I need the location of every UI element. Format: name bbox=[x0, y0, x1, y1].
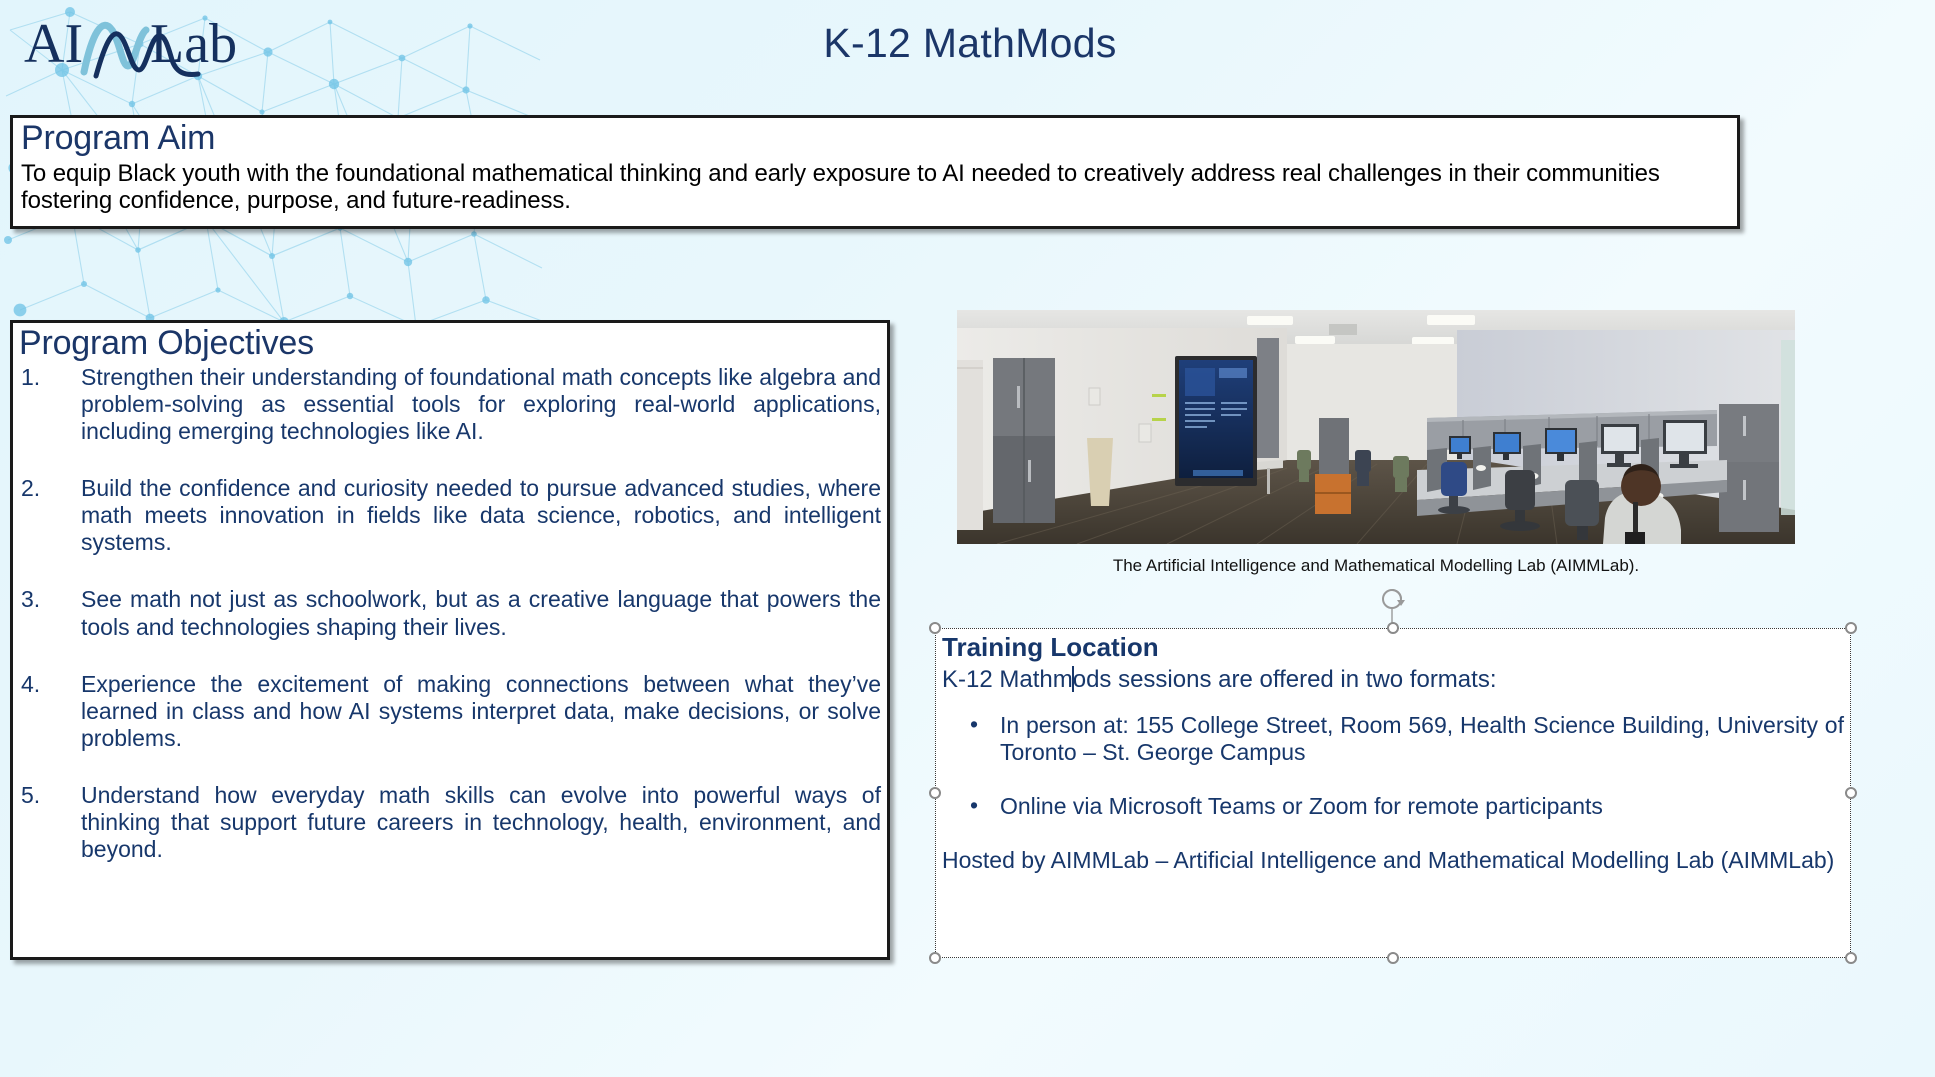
training-location-footer: Hosted by AIMMLab – Artificial Intellige… bbox=[942, 847, 1844, 874]
training-location-intro[interactable]: K-12 Mathmods sessions are offered in tw… bbox=[942, 666, 1844, 693]
lab-photo-caption: The Artificial Intelligence and Mathemat… bbox=[957, 556, 1795, 576]
list-item-number: 1. bbox=[21, 364, 61, 391]
svg-text:Lab: Lab bbox=[150, 13, 237, 75]
list-item-text: Experience the excitement of making conn… bbox=[81, 671, 881, 751]
program-objectives-box: Program Objectives 1. Strengthen their u… bbox=[10, 320, 890, 960]
intro-before-caret: K-12 Mathm bbox=[942, 666, 1073, 693]
lab-photo[interactable] bbox=[957, 310, 1795, 544]
bullet-icon: • bbox=[970, 711, 978, 738]
list-item-text: Build the confidence and curiosity neede… bbox=[81, 475, 881, 555]
list-item-text: See math not just as schoolwork, but as … bbox=[81, 586, 881, 639]
list-item: • In person at: 155 College Street, Room… bbox=[942, 712, 1844, 766]
bullet-icon: • bbox=[970, 792, 978, 819]
intro-after-caret: ods sessions are offered in two formats: bbox=[1073, 666, 1497, 693]
program-aim-text: To equip Black youth with the foundation… bbox=[21, 160, 1729, 214]
aimlab-logo: AI Lab bbox=[22, 6, 282, 86]
training-location-textbox[interactable]: Training Location K-12 Mathmods sessions… bbox=[935, 628, 1851, 958]
list-item-text: Online via Microsoft Teams or Zoom for r… bbox=[1000, 793, 1603, 819]
list-item: 4. Experience the excitement of making c… bbox=[19, 671, 881, 752]
training-location-heading: Training Location bbox=[942, 633, 1844, 662]
resize-handle-top-right[interactable] bbox=[1845, 622, 1857, 634]
list-item: 1. Strengthen their understanding of fou… bbox=[19, 364, 881, 445]
svg-text:AI: AI bbox=[24, 13, 83, 75]
resize-handle-bottom-center[interactable] bbox=[1387, 952, 1399, 964]
program-aim-box: Program Aim To equip Black youth with th… bbox=[10, 115, 1740, 229]
list-item-number: 5. bbox=[21, 782, 61, 809]
list-item-text: Understand how everyday math skills can … bbox=[81, 782, 881, 862]
list-item: 2. Build the confidence and curiosity ne… bbox=[19, 475, 881, 556]
list-item-number: 3. bbox=[21, 586, 61, 613]
program-aim-heading: Program Aim bbox=[21, 120, 1729, 157]
slide-canvas: AI Lab K-12 MathMods Program Aim To equi… bbox=[0, 0, 1935, 1077]
list-item-text: In person at: 155 College Street, Room 5… bbox=[1000, 712, 1844, 765]
resize-handle-middle-left[interactable] bbox=[929, 787, 941, 799]
resize-handle-bottom-left[interactable] bbox=[929, 952, 941, 964]
list-item: 5. Understand how everyday math skills c… bbox=[19, 782, 881, 863]
objectives-list: 1. Strengthen their understanding of fou… bbox=[19, 364, 881, 864]
training-location-bullets: • In person at: 155 College Street, Room… bbox=[942, 712, 1844, 820]
list-item-text: Strengthen their understanding of founda… bbox=[81, 364, 881, 444]
resize-handle-top-center[interactable] bbox=[1387, 622, 1399, 634]
list-item: 3. See math not just as schoolwork, but … bbox=[19, 586, 881, 640]
list-item-number: 4. bbox=[21, 671, 61, 698]
list-item: • Online via Microsoft Teams or Zoom for… bbox=[942, 793, 1844, 820]
resize-handle-middle-right[interactable] bbox=[1845, 787, 1857, 799]
page-title: K-12 MathMods bbox=[560, 20, 1380, 67]
list-item-number: 2. bbox=[21, 475, 61, 502]
resize-handle-bottom-right[interactable] bbox=[1845, 952, 1857, 964]
program-objectives-heading: Program Objectives bbox=[19, 325, 881, 362]
resize-handle-top-left[interactable] bbox=[929, 622, 941, 634]
